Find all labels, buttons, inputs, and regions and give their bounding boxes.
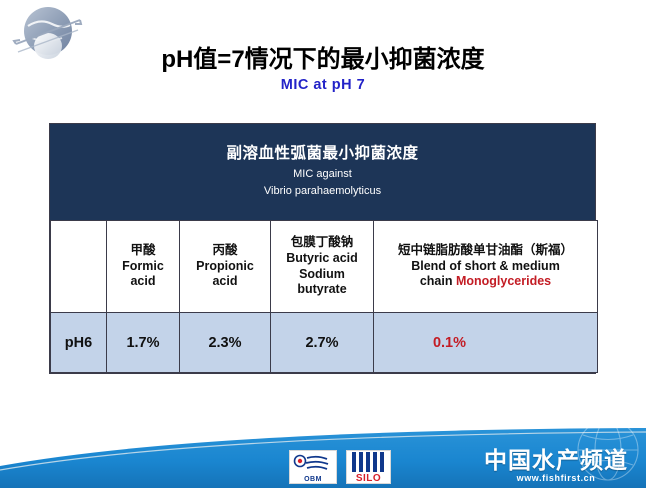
- column-title-en-1: Blend of short & medium: [376, 259, 595, 275]
- table-row: pH6 1.7% 2.3% 2.7% 0.1%: [51, 313, 598, 373]
- column-title-en-1: Formic: [109, 259, 177, 275]
- table-header-cell-corner: [51, 221, 107, 313]
- cell-value: 1.7%: [126, 335, 159, 351]
- column-title-en-2-wrap: chain Monoglycerides: [376, 274, 595, 290]
- footer-logo-group: OBM SILO: [289, 450, 391, 484]
- obm-logo-label: OBM: [290, 476, 336, 483]
- column-title-en-1: Propionic: [182, 259, 268, 275]
- cell-value: 2.3%: [208, 335, 241, 351]
- column-title-en-3: butyrate: [273, 282, 371, 298]
- table-banner-subtitle-1: MIC against: [293, 168, 352, 182]
- footer-banner: OBM SILO 中国水产频道 www.fishfirst.c: [0, 426, 646, 488]
- silo-logo-label: SILO: [347, 473, 390, 484]
- table-banner-subtitle-2: Vibrio parahaemolyticus: [264, 185, 381, 199]
- column-title-cn: 甲酸: [109, 243, 177, 259]
- column-title-en-2: acid: [109, 274, 177, 290]
- column-title-en-2: chain: [420, 274, 456, 288]
- table-banner-title-cn: 副溶血性弧菌最小抑菌浓度: [226, 145, 418, 164]
- silo-logo: SILO: [346, 450, 391, 484]
- title-block: pH值=7情况下的最小抑菌浓度 MIC at pH 7: [0, 46, 646, 93]
- row-label: pH6: [65, 335, 92, 351]
- column-title-cn: 短中链脂肪酸单甘油酯（斯福）: [376, 243, 595, 259]
- page-subtitle: MIC at pH 7: [0, 77, 646, 93]
- table-grid: 甲酸 Formic acid 丙酸 Propionic acid 包膜丁酸钠 B…: [50, 220, 598, 373]
- table-banner: 副溶血性弧菌最小抑菌浓度 MIC against Vibrio parahaem…: [50, 124, 595, 220]
- table-header-cell-propionic-acid: 丙酸 Propionic acid: [180, 221, 271, 313]
- fishfirst-brand: 中国水产频道 www.fishfirst.cn: [484, 449, 628, 483]
- column-title-en-2: acid: [182, 274, 268, 290]
- page-title: pH值=7情况下的最小抑菌浓度: [0, 46, 646, 74]
- column-title-en-3-highlight: Monoglycerides: [456, 274, 551, 288]
- column-title-cn: 包膜丁酸钠: [273, 235, 371, 251]
- table-row-label-cell: pH6: [51, 313, 107, 373]
- obm-logo: OBM: [289, 450, 337, 484]
- column-title-en-2: Sodium: [273, 267, 371, 283]
- column-title-cn: 丙酸: [182, 243, 268, 259]
- fishfirst-brand-cn: 中国水产频道: [484, 449, 628, 472]
- table-header-row: 甲酸 Formic acid 丙酸 Propionic acid 包膜丁酸钠 B…: [51, 221, 598, 313]
- table-header-cell-monoglycerides: 短中链脂肪酸单甘油酯（斯福） Blend of short & medium c…: [374, 221, 598, 313]
- table-cell-butyrate-value: 2.7%: [271, 313, 374, 373]
- mic-table: 副溶血性弧菌最小抑菌浓度 MIC against Vibrio parahaem…: [49, 123, 596, 374]
- cell-value-highlight: 0.1%: [433, 335, 466, 351]
- cell-value-wrapper: 0.1%: [374, 334, 597, 352]
- table-cell-propionic-value: 2.3%: [180, 313, 271, 373]
- table-header-cell-sodium-butyrate: 包膜丁酸钠 Butyric acid Sodium butyrate: [271, 221, 374, 313]
- fishfirst-brand-url: www.fishfirst.cn: [484, 473, 628, 483]
- table-cell-formic-value: 1.7%: [107, 313, 180, 373]
- column-title-en-1: Butyric acid: [273, 251, 371, 267]
- slide-canvas: pH值=7情况下的最小抑菌浓度 MIC at pH 7 副溶血性弧菌最小抑菌浓度…: [0, 0, 646, 488]
- table-cell-monoglycerides-value: 0.1%: [374, 313, 598, 373]
- table-header-cell-formic-acid: 甲酸 Formic acid: [107, 221, 180, 313]
- cell-value: 2.7%: [305, 335, 338, 351]
